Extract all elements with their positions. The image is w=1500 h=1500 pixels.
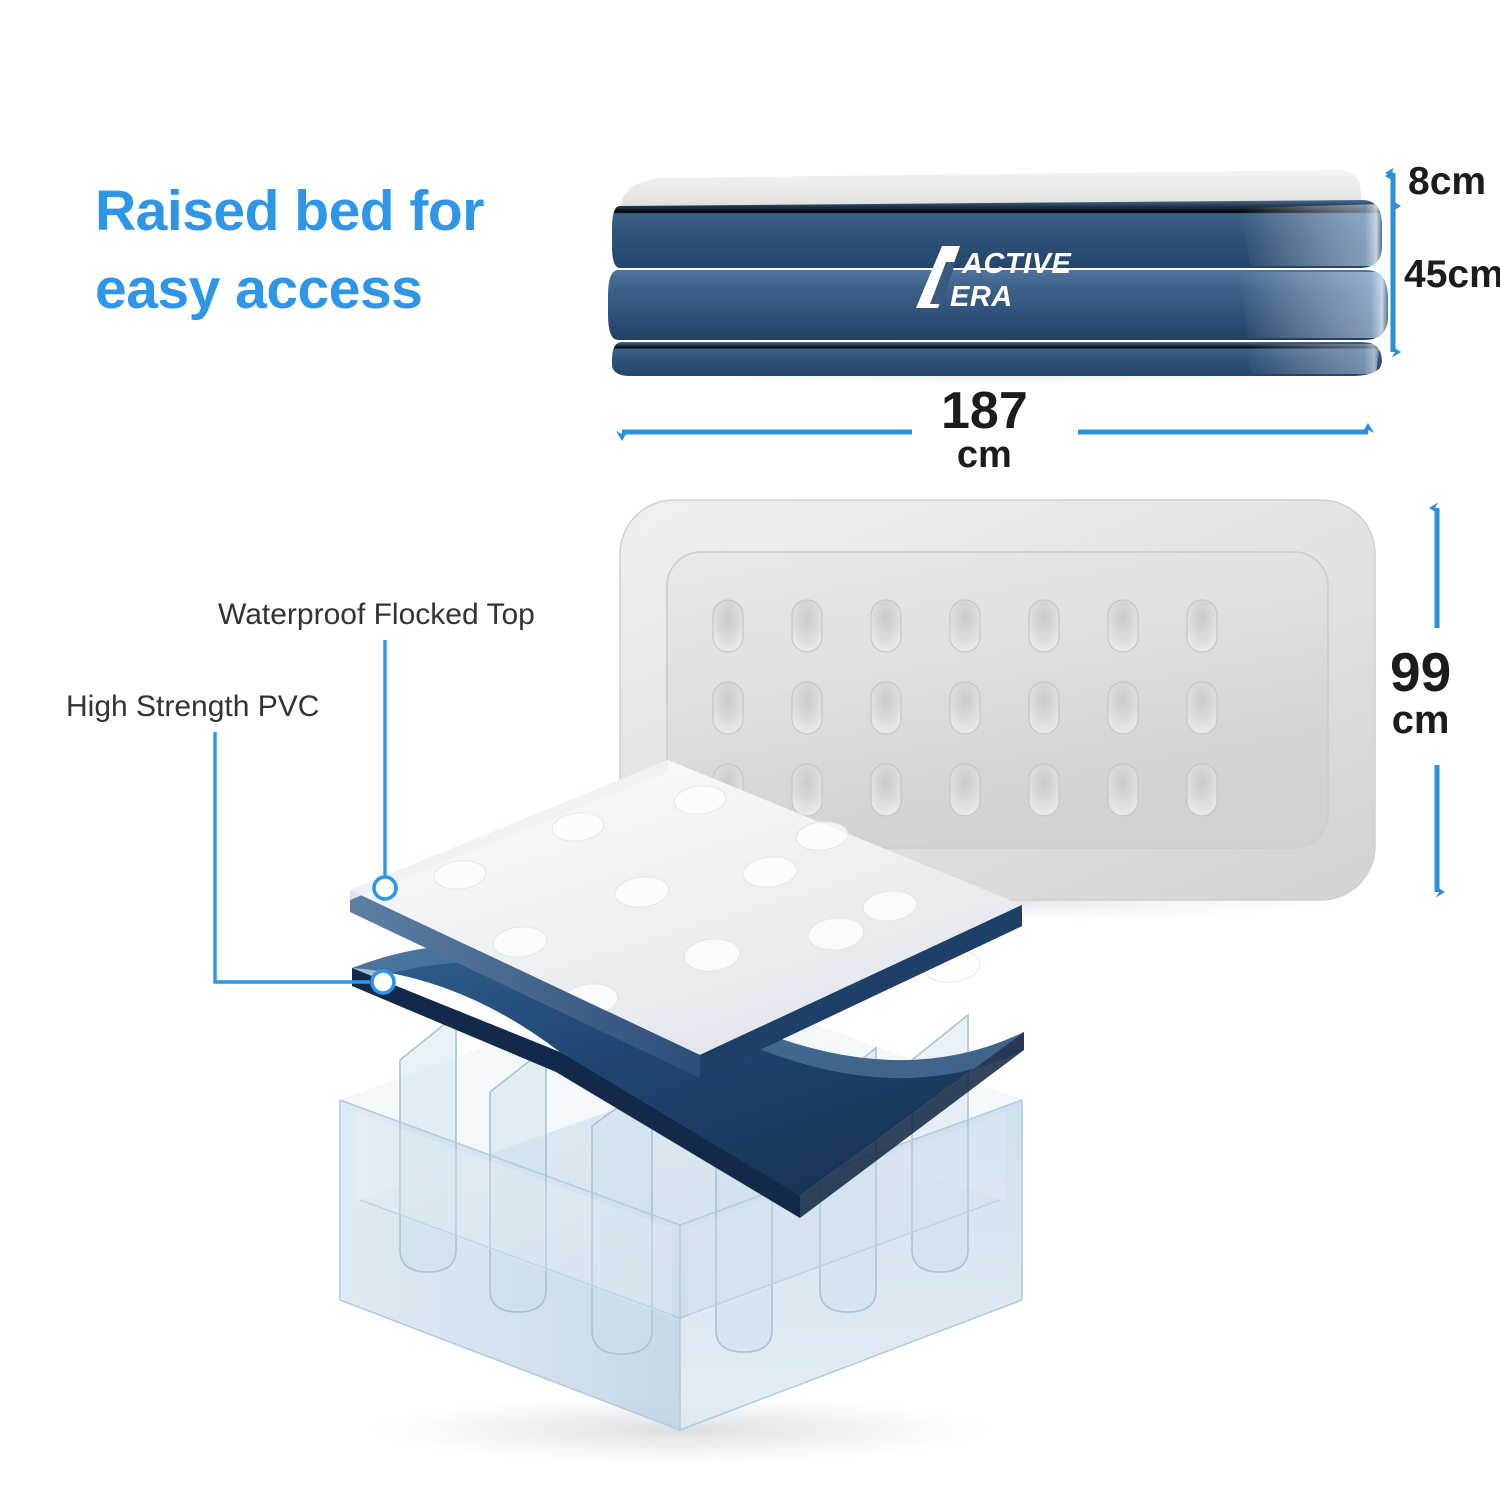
dimension-unit-99: cm (1390, 700, 1451, 740)
flocked-top-sheet (350, 760, 1022, 1078)
layer-cutaway-diagram (340, 760, 1030, 1466)
air-bed-top-view (620, 500, 1375, 922)
callout-label-high-strength-pvc: High Strength PVC (66, 690, 319, 724)
dimension-label-187cm: 187 cm (941, 386, 1028, 474)
ring-marker-pvc (372, 971, 394, 993)
dimension-unit-187: cm (941, 437, 1028, 474)
dimension-label-99cm: 99 cm (1390, 645, 1451, 740)
dimension-label-8cm: 8cm (1408, 160, 1486, 204)
dimension-label-45cm: 45cm (1404, 253, 1500, 297)
callout-label-flocked-top: Waterproof Flocked Top (218, 598, 535, 632)
air-coil-box (340, 975, 1022, 1430)
pvc-layer (348, 944, 1030, 1218)
dimple-grid (713, 600, 1217, 816)
side-view-flocked-surface (620, 170, 1362, 214)
leader-high-strength-pvc (215, 732, 394, 993)
active-era-logo: ACTIVE ERA (916, 246, 1073, 313)
ring-marker-flocked-top (374, 877, 396, 899)
headline: Raised bed for easy access (95, 172, 615, 328)
svg-text:ACTIVE: ACTIVE (961, 248, 1073, 280)
dimension-value-99: 99 (1390, 641, 1451, 703)
svg-text:ERA: ERA (950, 281, 1013, 313)
air-bed-side-view (608, 170, 1388, 386)
pvc-top-surface (352, 944, 1024, 1196)
headline-line-1: Raised bed for (95, 172, 615, 250)
infographic-canvas: ACTIVE ERA (0, 0, 1500, 1500)
headline-line-2: easy access (95, 250, 615, 328)
dimension-value-187: 187 (941, 382, 1028, 440)
leader-flocked-top (374, 640, 396, 899)
